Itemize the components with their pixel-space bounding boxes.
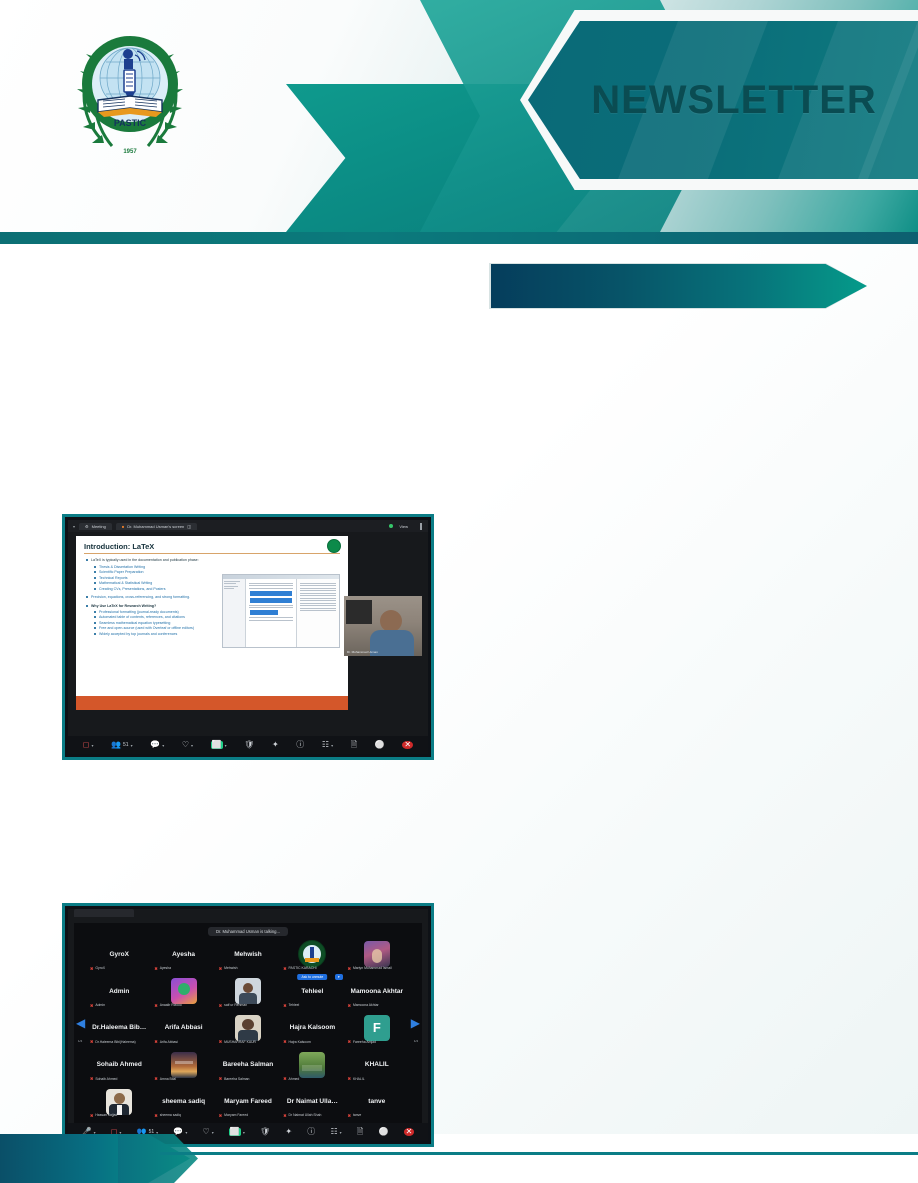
next-page-arrow-icon[interactable]: ▶ [411, 1016, 420, 1030]
mic-muted-icon: ✖ [283, 1039, 286, 1044]
participant-display-name: Mamoona Akhtar [351, 988, 404, 995]
mic-muted-icon: ✖ [348, 1039, 351, 1044]
tab-meeting-gallery[interactable] [74, 909, 134, 917]
participant-tile[interactable]: Sohaib Ahmed ✖Sohaib Ahmed [88, 1047, 150, 1082]
mic-muted-icon: ✖ [219, 1076, 222, 1081]
participant-name-label: Sohaib Ahmed [95, 1077, 117, 1081]
meeting-icon: ⚙ [85, 524, 89, 529]
participant-name-label: GyroX [95, 966, 105, 970]
slide-heading: Introduction: LaTeX [76, 536, 348, 553]
slide-bullet: LaTeX is typically used in the documenta… [91, 558, 199, 562]
figure-gallery-view: Dr. Muhammad Usman is talking... ◀ ▶ 1/4… [62, 903, 434, 1147]
newsletter-banner: NEWSLETTER [528, 21, 918, 179]
participant-display-name: GyroX [109, 951, 129, 958]
participant-tile[interactable]: GyroX ✖GyroX [88, 937, 150, 972]
prev-page-arrow-icon[interactable]: ◀ [76, 1016, 85, 1030]
participant-tile[interactable]: Admin ✖Admin [88, 974, 150, 1009]
tab-meeting-label: Meeting [92, 524, 106, 529]
recording-indicator-icon [389, 524, 393, 528]
participant-name-label: Ayesha [160, 966, 171, 970]
camera-off-icon[interactable]: ◻▾ [83, 741, 94, 749]
slide-bullet: Automated table of contents, references,… [99, 615, 185, 619]
info-icon[interactable]: ⓘ [307, 1128, 315, 1136]
header-divider [0, 232, 918, 244]
slide-bullet: Professional formatting (journal-ready d… [99, 610, 179, 614]
mic-muted-icon: ✖ [348, 966, 351, 971]
mic-muted-icon: ✖ [154, 1076, 157, 1081]
participant-display-name: sheema sadiq [162, 1098, 205, 1105]
participant-name-label: Arifa Abbasi [160, 1040, 178, 1044]
participant-tile[interactable]: ✖MUSHARRAF KAUR [217, 1011, 279, 1046]
mic-muted-icon: ✖ [90, 1003, 93, 1008]
newsletter-page: NEWSLETTER [0, 0, 918, 1183]
chat-icon[interactable]: 💬▾ [173, 1128, 187, 1136]
avatar [299, 1052, 325, 1078]
tab-screenshare-label: Dr. Muhammad Usman's screen [127, 524, 184, 529]
slide-screenshot-image [222, 574, 340, 648]
more-icon[interactable]: ⚪ [378, 1128, 388, 1136]
participant-tile[interactable]: Tehleel ✖Tehleel [281, 974, 343, 1009]
logo-year: 1957 [123, 149, 137, 155]
participant-tile[interactable]: KHALIL ✖KHALIL [346, 1047, 408, 1082]
participant-grid: GyroX ✖GyroX Ayesha ✖Ayesha Mehwish ✖Meh… [88, 937, 408, 1119]
participant-name-label: Dr Naimat Ullah Shah [289, 1113, 322, 1117]
view-button[interactable]: View [399, 524, 408, 529]
security-icon[interactable]: 🛡 [260, 1128, 270, 1136]
participant-name-label: Mariyn Muhammad Ismail [353, 966, 392, 970]
participant-tile[interactable]: Mehwish ✖Mehwish [217, 937, 279, 972]
mic-muted-icon: ✖ [219, 1039, 222, 1044]
participants-count: 51 [123, 742, 129, 748]
participant-tile[interactable]: Mamoona Akhtar ✖Mamoona Akhtar [346, 974, 408, 1009]
participant-tile[interactable]: Dr.Haleema Bib… ✖Dr.Haleema Bibi(Haleema… [88, 1011, 150, 1046]
breakout-rooms-icon[interactable]: ☷▾ [322, 741, 333, 749]
participant-tile[interactable]: ✖Amna Bilal [152, 1047, 214, 1082]
mic-muted-icon: ✖ [90, 1039, 93, 1044]
leave-icon[interactable]: ✕ [404, 1128, 415, 1136]
participant-tile[interactable]: Dr Naimat Ulla… ✖Dr Naimat Ullah Shah [281, 1084, 343, 1119]
window-split-icon[interactable]: ◫ [187, 524, 191, 529]
participant-tile[interactable]: ✖saif ur Rehman [217, 974, 279, 1009]
mic-muted-icon: ✖ [219, 1113, 222, 1118]
presenter-video-thumbnail[interactable]: Dr. Muhammad Usman [344, 596, 422, 656]
mic-muted-icon: ✖ [283, 1076, 286, 1081]
mic-muted-icon: ✖ [219, 966, 222, 971]
participant-tile[interactable]: ✖Mariyn Muhammad Ismail [346, 937, 408, 972]
section-title-bar [491, 264, 867, 308]
tab-meeting[interactable]: ⚙ Meeting [79, 523, 112, 530]
mic-muted-icon: ✖ [154, 966, 157, 971]
participant-name-label: tanve [353, 1113, 361, 1117]
gallery-area: Dr. Muhammad Usman is talking... ◀ ▶ 1/4… [74, 923, 422, 1123]
participant-name-label: sheema sadiq [160, 1113, 181, 1117]
mic-muted-icon: ✖ [90, 1076, 93, 1081]
mic-muted-icon: ✖ [154, 1039, 157, 1044]
slide-bullet: Seamless mathematical equation typesetti… [99, 621, 170, 625]
participants-icon[interactable]: 👥51▾ [111, 741, 133, 749]
pastic-logo: PASTIC پاستک 1957 [68, 22, 192, 160]
notes-icon[interactable]: 🗎 [351, 741, 357, 749]
avatar [106, 1089, 132, 1115]
slide-footer-band [76, 696, 348, 710]
participant-tile[interactable]: Hajra Kalsoom ✖Hajra Kalsoom [281, 1011, 343, 1046]
avatar [171, 978, 197, 1004]
participant-display-name: Admin [109, 988, 129, 995]
participant-display-name: Bareeha Salman [223, 1061, 274, 1068]
zoom-window-screenshare: ▾ ⚙ Meeting ■ Dr. Muhammad Usman's scree… [68, 520, 428, 754]
participant-name-label: Ahmed [289, 1077, 300, 1081]
slide-bullet: Free and open-source (used with Overleaf… [99, 626, 194, 630]
mic-muted-icon: ✖ [90, 966, 93, 971]
slide-bullet: Scientific Paper Preparation [99, 570, 144, 574]
footer-rule [160, 1152, 918, 1155]
chevron-down-icon[interactable]: ▾ [73, 524, 75, 529]
participant-display-name: tanve [368, 1098, 385, 1105]
participant-display-name: Hajra Kalsoom [290, 1024, 336, 1031]
avatar-initial: F [373, 1020, 381, 1035]
mic-muted-icon: ✖ [348, 1113, 351, 1118]
participant-name-label: Dr.Haleema Bibi(Haleema) [95, 1040, 135, 1044]
slide-bullet: Widely accepted by top journals and conf… [99, 632, 177, 636]
participant-tile[interactable]: ✖PASTIC KARACHI Ask to unmute ▾ [281, 937, 343, 972]
avatar [364, 941, 390, 967]
page-indicator-right: 1/4 [414, 1039, 418, 1043]
participant-display-name: Arifa Abbasi [165, 1024, 203, 1031]
share-screen-icon[interactable]: ⬜▾ [229, 1128, 245, 1136]
apps-icon[interactable]: ✦ [272, 741, 279, 749]
leave-icon[interactable]: ✕ [402, 741, 413, 749]
slide-bullet: Thesis & Dissertation Writing [99, 565, 145, 569]
slide-divider [84, 553, 340, 554]
participant-tile[interactable]: ✖Ahmed [281, 1047, 343, 1082]
participant-name-label: Bareeha Salman [224, 1077, 249, 1081]
zoom-titlebar: ▾ ⚙ Meeting ■ Dr. Muhammad Usman's scree… [68, 520, 428, 532]
page-indicator-left: 1/4 [78, 1039, 82, 1043]
zoom-toolbar-screenshare: ◻▾ 👥51▾ 💬▾ ♡▾ ⬜▾ 🛡 ✦ ⓘ ☷▾ 🗎 ⚪ ✕ [68, 736, 428, 754]
slide-bullet: Creating CVs, Presentations, and Posters [99, 587, 166, 591]
participant-tile[interactable]: tanve ✖tanve [346, 1084, 408, 1119]
participant-name-label: Amna Bilal [160, 1077, 176, 1081]
mic-muted-icon: ✖ [283, 1003, 286, 1008]
mic-muted-icon: ✖ [154, 1003, 157, 1008]
breakout-rooms-icon[interactable]: ☷▾ [330, 1128, 341, 1136]
participant-name-label: Hajra Kalsoom [289, 1040, 311, 1044]
participant-name-label: Hassan Sajjad [95, 1113, 117, 1117]
share-screen-icon[interactable]: ⬜▾ [211, 741, 227, 749]
shared-slide: Introduction: LaTeX LaTeX is typically u… [76, 536, 348, 710]
participant-name-label: KHALIL [353, 1077, 365, 1081]
logo-urdu-text: پاستک [121, 132, 139, 140]
figure-screenshare: ▾ ⚙ Meeting ■ Dr. Muhammad Usman's scree… [62, 514, 434, 760]
participant-display-name: Ayesha [172, 951, 195, 958]
participant-name-label: Maryam Fareed [224, 1113, 248, 1117]
participant-display-name: Maryam Fareed [224, 1098, 272, 1105]
participant-tile[interactable]: Maryam Fareed ✖Maryam Fareed [217, 1084, 279, 1119]
participant-name-label: Admin [95, 1003, 105, 1007]
avatar [235, 1015, 261, 1041]
participant-name-label: Tehleel [289, 1003, 300, 1007]
maximize-icon[interactable] [420, 524, 422, 529]
participant-display-name: Mehwish [234, 951, 261, 958]
gallery-tabbar [68, 909, 428, 917]
avatar [298, 940, 326, 968]
participant-display-name: Dr.Haleema Bib… [92, 1024, 146, 1031]
meeting-watermark-icon [327, 539, 341, 553]
participant-name-label: saif ur Rehman [224, 1003, 247, 1007]
slide-bullet: Mathematical & Statistical Writing [99, 581, 152, 585]
participant-tile[interactable]: F ✖Fareeha Amjad [346, 1011, 408, 1046]
participant-tile[interactable]: Ayesha ✖Ayesha [152, 937, 214, 972]
mic-muted-icon: ✖ [348, 1003, 351, 1008]
slide-bullet: Why Use LaTeX for Research Writing? [91, 604, 156, 608]
participant-name-label: Mehwish [224, 966, 237, 970]
participant-tile[interactable]: sheema sadiq ✖sheema sadiq [152, 1084, 214, 1119]
participant-display-name: Dr Naimat Ulla… [287, 1098, 338, 1105]
participant-tile[interactable]: Bareeha Salman ✖Bareeha Salman [217, 1047, 279, 1082]
participant-name-label: PASTIC KARACHI [289, 966, 317, 970]
participant-display-name: Tehleel [301, 988, 323, 995]
participant-tile[interactable]: ✖Hassan Sajjad [88, 1084, 150, 1119]
presenter-name-label: Dr. Muhammad Usman [347, 650, 378, 654]
chat-icon[interactable]: 💬▾ [150, 741, 164, 749]
active-speaker-pill: Dr. Muhammad Usman is talking... [208, 927, 288, 936]
tab-screenshare[interactable]: ■ Dr. Muhammad Usman's screen ◫ [116, 523, 197, 530]
mic-muted-icon: ✖ [90, 1113, 93, 1118]
screen-share-icon: ■ [122, 524, 124, 529]
mic-muted-icon: ✖ [219, 1003, 222, 1008]
avatar [171, 1052, 197, 1078]
participant-name-label: Anaalir Rizooo [160, 1003, 182, 1007]
participant-display-name: KHALIL [365, 1061, 389, 1068]
participant-name-label: MUSHARRAF KAUR [224, 1040, 256, 1044]
page-header: NEWSLETTER [0, 0, 918, 232]
security-icon[interactable]: 🛡 [244, 741, 254, 749]
slide-bullet: Technical Reports [99, 576, 128, 580]
more-icon[interactable]: ⚪ [375, 741, 385, 749]
participant-tile[interactable]: ✖Anaalir Rizooo [152, 974, 214, 1009]
reactions-icon[interactable]: ♡▾ [182, 741, 193, 749]
participant-name-label: Mamoona Akhtar [353, 1003, 379, 1007]
slide-bullet: Precision, equations, cross-referencing,… [91, 595, 190, 599]
apps-icon[interactable]: ✦ [285, 1128, 292, 1136]
mic-muted-icon: ✖ [283, 966, 286, 971]
notes-icon[interactable]: 🗎 [357, 1128, 363, 1136]
participant-tile[interactable]: Arifa Abbasi ✖Arifa Abbasi [152, 1011, 214, 1046]
reactions-icon[interactable]: ♡▾ [203, 1128, 214, 1136]
info-icon[interactable]: ⓘ [296, 741, 304, 749]
page-title: NEWSLETTER [528, 21, 918, 179]
zoom-window-gallery: Dr. Muhammad Usman is talking... ◀ ▶ 1/4… [68, 909, 428, 1141]
avatar [235, 978, 261, 1004]
participant-display-name: Sohaib Ahmed [97, 1061, 142, 1068]
mic-muted-icon: ✖ [154, 1113, 157, 1118]
mic-muted-icon: ✖ [283, 1113, 286, 1118]
mic-muted-icon: ✖ [348, 1076, 351, 1081]
participant-name-label: Fareeha Amjad [353, 1040, 376, 1044]
avatar-letter: F [364, 1015, 390, 1041]
logo-wordmark: PASTIC [114, 118, 147, 128]
